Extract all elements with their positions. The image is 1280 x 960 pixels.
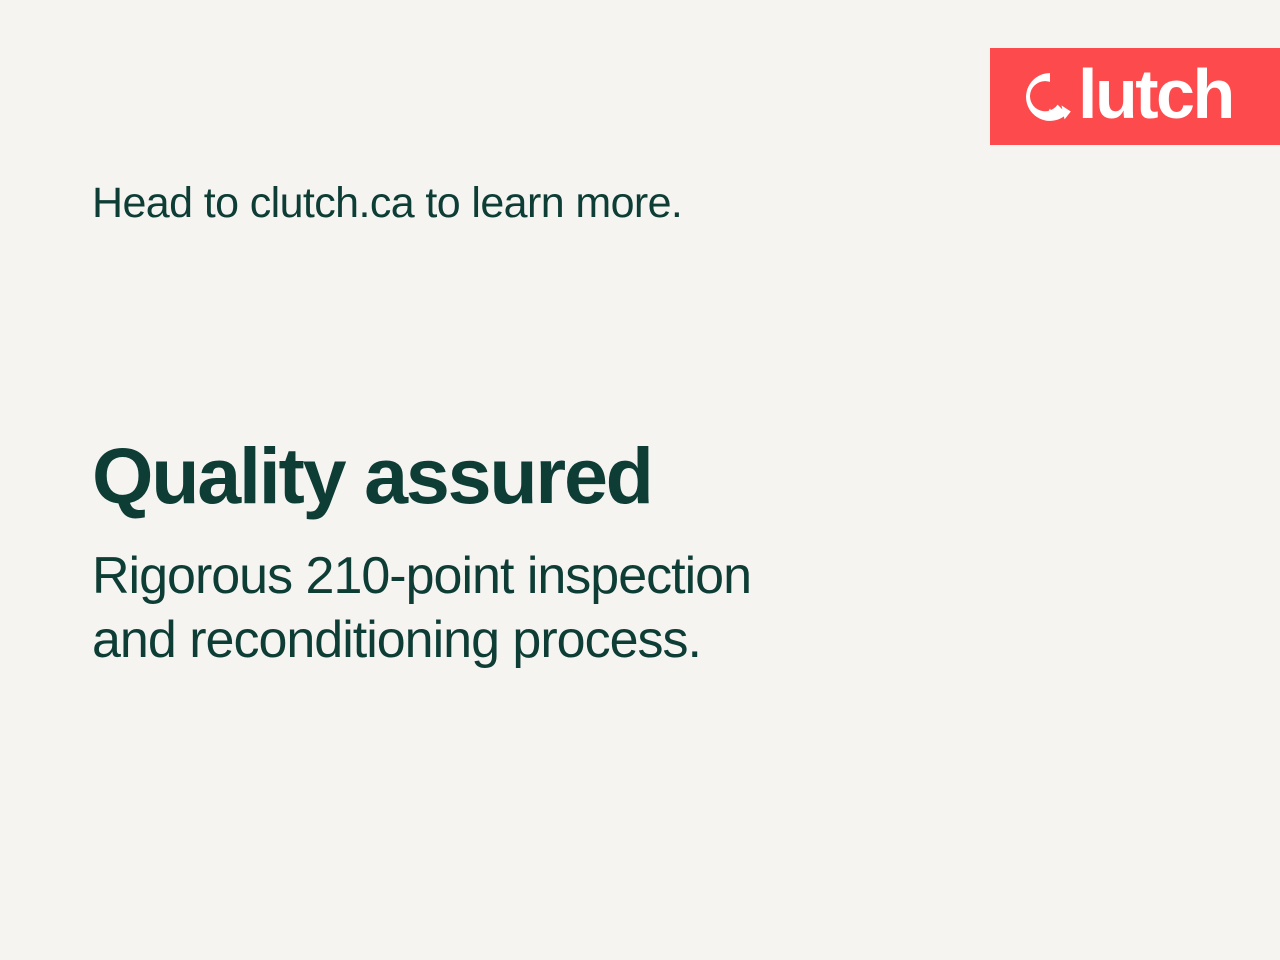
clutch-wordmark-text: lutch	[1078, 59, 1233, 129]
promo-slide: lutch Head to clutch.ca to learn more. Q…	[0, 0, 1280, 960]
subcopy-line-2: and reconditioning process.	[92, 608, 751, 672]
brand-logo-bar: lutch	[990, 48, 1280, 145]
subcopy-line-1: Rigorous 210-point inspection	[92, 544, 751, 608]
eyebrow-text: Head to clutch.ca to learn more.	[92, 178, 682, 229]
subcopy-block: Rigorous 210-point inspection and recond…	[92, 544, 751, 673]
page-title: Quality assured	[92, 436, 652, 515]
clutch-c-mark-icon	[1024, 71, 1076, 123]
clutch-wordmark: lutch	[1024, 48, 1233, 145]
